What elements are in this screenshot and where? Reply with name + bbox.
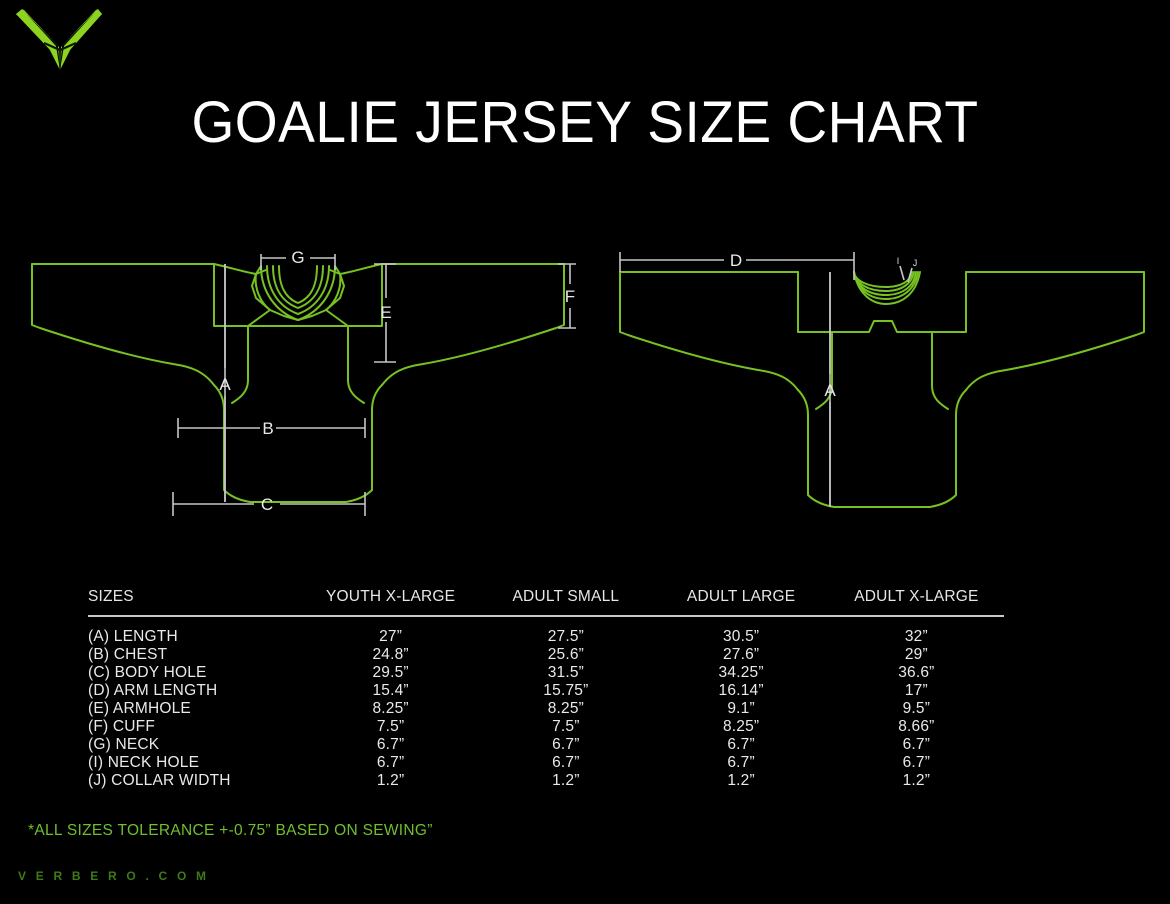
row-label-chest: (B) CHEST — [88, 646, 303, 664]
cell-armhole-adult-small: 8.25” — [478, 700, 653, 718]
table-header: SIZES YOUTH X-LARGE ADULT SMALL ADULT LA… — [88, 588, 1004, 616]
table-body: (A) LENGTH 27” 27.5” 30.5” 32” (B) CHEST… — [88, 616, 1004, 790]
svg-text:D: D — [730, 251, 742, 270]
cell-length-adult-large: 30.5” — [654, 616, 829, 646]
cell-chest-adult-x-large: 29” — [829, 646, 1004, 664]
cell-arm-length-adult-large: 16.14” — [654, 682, 829, 700]
table-row: (I) NECK HOLE 6.7” 6.7” 6.7” 6.7” — [88, 754, 1004, 772]
svg-text:A: A — [219, 375, 231, 394]
column-header-adult-small: ADULT SMALL — [478, 588, 653, 616]
cell-length-adult-x-large: 32” — [829, 616, 1004, 646]
svg-text:J: J — [913, 258, 918, 268]
front-jersey-diagram: G F E A B C — [18, 240, 578, 540]
cell-collar-width-adult-large: 1.2” — [654, 772, 829, 790]
cell-cuff-youth-x-large: 7.5” — [303, 718, 478, 736]
cell-neck-adult-small: 6.7” — [478, 736, 653, 754]
row-label-armhole: (E) ARMHOLE — [88, 700, 303, 718]
table-row: (B) CHEST 24.8” 25.6” 27.6” 29” — [88, 646, 1004, 664]
svg-text:B: B — [262, 419, 273, 438]
cell-chest-adult-large: 27.6” — [654, 646, 829, 664]
column-header-adult-large: ADULT LARGE — [654, 588, 829, 616]
cell-armhole-adult-large: 9.1” — [654, 700, 829, 718]
svg-text:I: I — [897, 256, 900, 266]
cell-body-hole-adult-large: 34.25” — [654, 664, 829, 682]
svg-text:F: F — [565, 287, 575, 306]
cell-neck-hole-youth-x-large: 6.7” — [303, 754, 478, 772]
cell-neck-adult-x-large: 6.7” — [829, 736, 1004, 754]
table-row: (E) ARMHOLE 8.25” 8.25” 9.1” 9.5” — [88, 700, 1004, 718]
verbero-v-logo-icon — [14, 6, 106, 72]
table-row: (D) ARM LENGTH 15.4” 15.75” 16.14” 17” — [88, 682, 1004, 700]
cell-length-youth-x-large: 27” — [303, 616, 478, 646]
cell-arm-length-adult-small: 15.75” — [478, 682, 653, 700]
cell-arm-length-youth-x-large: 15.4” — [303, 682, 478, 700]
cell-cuff-adult-small: 7.5” — [478, 718, 653, 736]
cell-neck-youth-x-large: 6.7” — [303, 736, 478, 754]
svg-text:E: E — [380, 303, 391, 322]
svg-text:A: A — [824, 381, 836, 400]
svg-text:G: G — [291, 248, 304, 267]
table-row: (J) COLLAR WIDTH 1.2” 1.2” 1.2” 1.2” — [88, 772, 1004, 790]
column-header-youth-x-large: YOUTH X-LARGE — [303, 588, 478, 616]
table-row: (G) NECK 6.7” 6.7” 6.7” 6.7” — [88, 736, 1004, 754]
cell-arm-length-adult-x-large: 17” — [829, 682, 1004, 700]
row-label-arm-length: (D) ARM LENGTH — [88, 682, 303, 700]
row-label-neck: (G) NECK — [88, 736, 303, 754]
cell-armhole-youth-x-large: 8.25” — [303, 700, 478, 718]
cell-neck-adult-large: 6.7” — [654, 736, 829, 754]
site-watermark: V E R B E R O . C O M — [18, 869, 209, 883]
cell-length-adult-small: 27.5” — [478, 616, 653, 646]
cell-body-hole-adult-x-large: 36.6” — [829, 664, 1004, 682]
table-row: (C) BODY HOLE 29.5” 31.5” 34.25” 36.6” — [88, 664, 1004, 682]
cell-body-hole-adult-small: 31.5” — [478, 664, 653, 682]
table-header-row: SIZES YOUTH X-LARGE ADULT SMALL ADULT LA… — [88, 588, 1004, 616]
size-chart-page: GOALIE JERSEY SIZE CHART — [0, 0, 1170, 904]
svg-text:C: C — [261, 495, 273, 514]
cell-cuff-adult-x-large: 8.66” — [829, 718, 1004, 736]
tolerance-note: *ALL SIZES TOLERANCE +-0.75” BASED ON SE… — [28, 822, 433, 840]
column-header-adult-x-large: ADULT X-LARGE — [829, 588, 1004, 616]
cell-neck-hole-adult-large: 6.7” — [654, 754, 829, 772]
cell-collar-width-adult-small: 1.2” — [478, 772, 653, 790]
cell-neck-hole-adult-small: 6.7” — [478, 754, 653, 772]
cell-armhole-adult-x-large: 9.5” — [829, 700, 1004, 718]
row-label-length: (A) LENGTH — [88, 616, 303, 646]
row-label-neck-hole: (I) NECK HOLE — [88, 754, 303, 772]
back-jersey-diagram: D A I J — [606, 240, 1158, 540]
size-table-container: SIZES YOUTH X-LARGE ADULT SMALL ADULT LA… — [88, 588, 1004, 790]
page-title: GOALIE JERSEY SIZE CHART — [29, 92, 1141, 154]
column-header-sizes: SIZES — [88, 588, 303, 616]
cell-body-hole-youth-x-large: 29.5” — [303, 664, 478, 682]
cell-collar-width-adult-x-large: 1.2” — [829, 772, 1004, 790]
size-table: SIZES YOUTH X-LARGE ADULT SMALL ADULT LA… — [88, 588, 1004, 790]
row-label-cuff: (F) CUFF — [88, 718, 303, 736]
cell-neck-hole-adult-x-large: 6.7” — [829, 754, 1004, 772]
table-row: (F) CUFF 7.5” 7.5” 8.25” 8.66” — [88, 718, 1004, 736]
cell-chest-youth-x-large: 24.8” — [303, 646, 478, 664]
cell-chest-adult-small: 25.6” — [478, 646, 653, 664]
table-row: (A) LENGTH 27” 27.5” 30.5” 32” — [88, 616, 1004, 646]
row-label-collar-width: (J) COLLAR WIDTH — [88, 772, 303, 790]
cell-cuff-adult-large: 8.25” — [654, 718, 829, 736]
row-label-body-hole: (C) BODY HOLE — [88, 664, 303, 682]
cell-collar-width-youth-x-large: 1.2” — [303, 772, 478, 790]
